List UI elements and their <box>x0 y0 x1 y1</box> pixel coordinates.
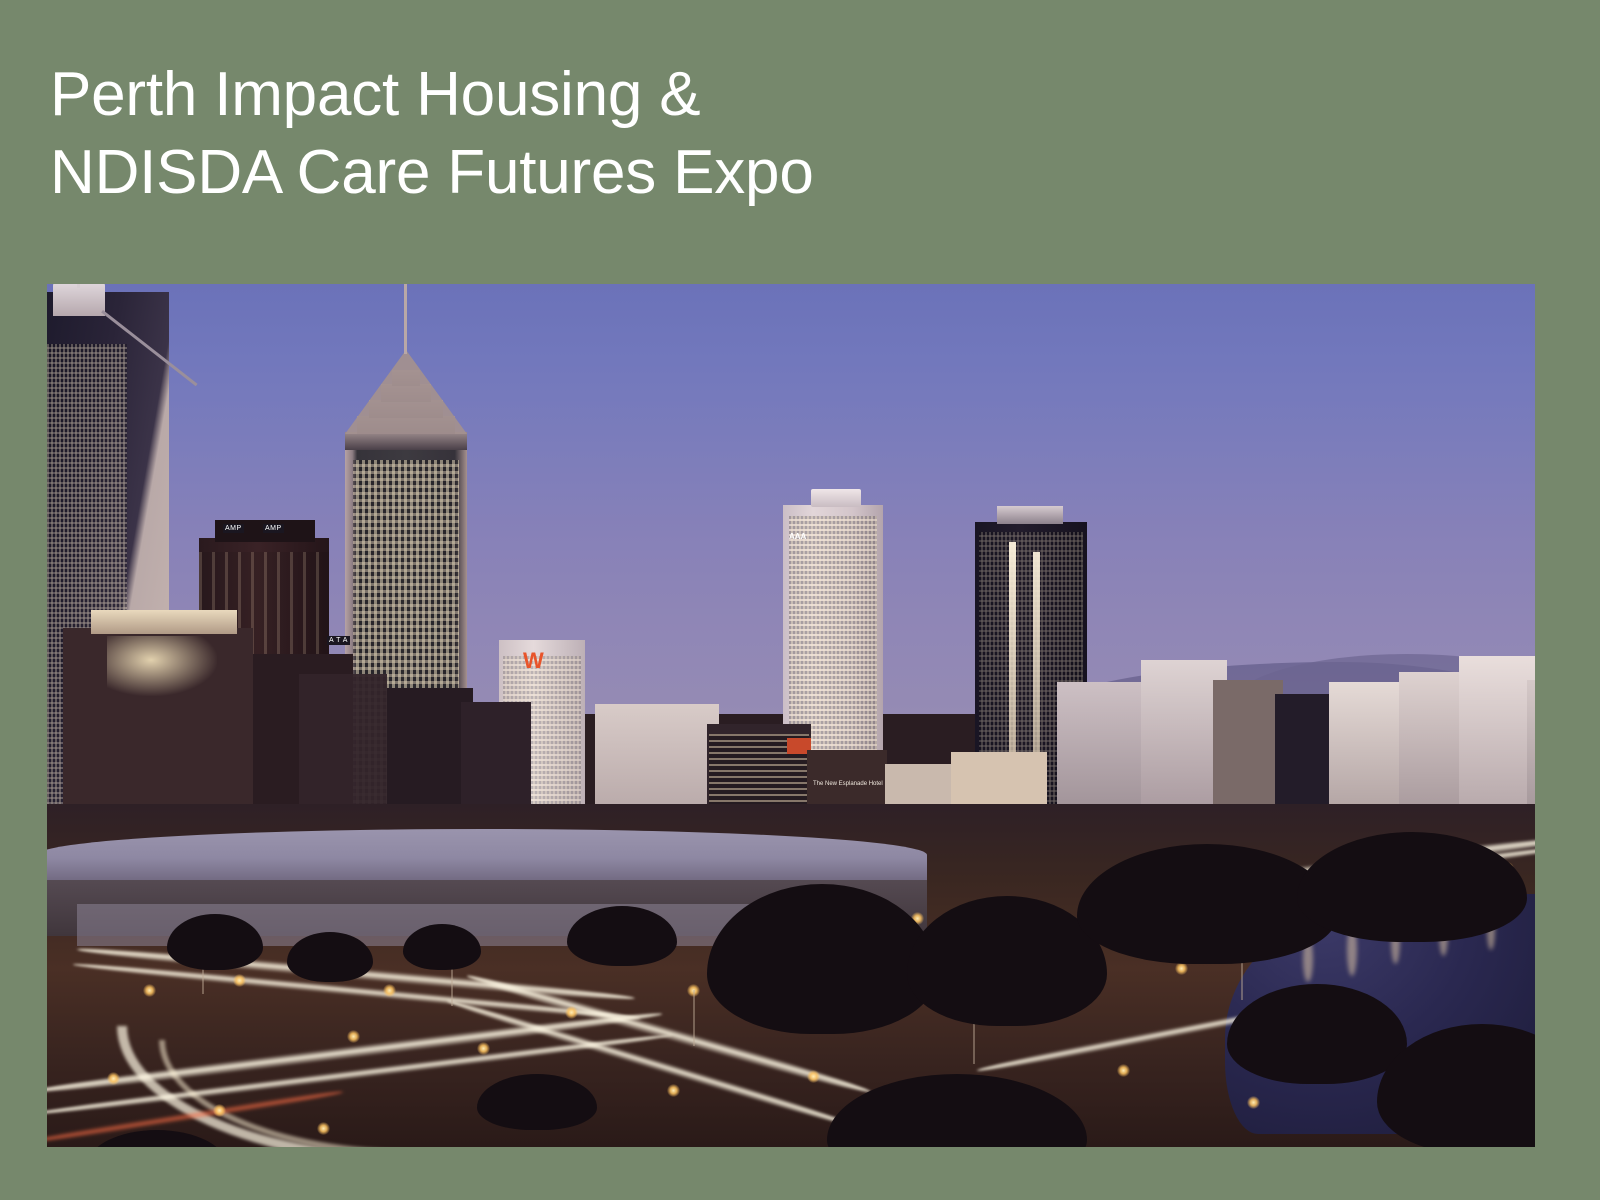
sign-westpac-w: W <box>523 650 544 672</box>
title-line-2: NDISDA Care Futures Expo <box>50 134 1150 212</box>
street-lamp <box>143 984 156 997</box>
building-bankwest-crown <box>53 284 105 316</box>
street-lamp <box>667 1084 680 1097</box>
street-lamp <box>1175 962 1188 975</box>
street-lamp <box>565 1006 578 1019</box>
building-central-park-spire <box>404 284 407 354</box>
street-lamp <box>807 1070 820 1083</box>
page-title: Perth Impact Housing & NDISDA Care Futur… <box>50 56 1150 212</box>
building-central-park-peak <box>345 350 467 434</box>
street-lamp <box>233 974 246 987</box>
building-aaa-tower-cap <box>811 489 861 507</box>
title-line-1: Perth Impact Housing & <box>50 56 1150 134</box>
street-lamp <box>107 1072 120 1085</box>
street-lamp <box>347 1030 360 1043</box>
street-lamp <box>1117 1064 1130 1077</box>
presentation-slide: Perth Impact Housing & NDISDA Care Futur… <box>0 0 1600 1200</box>
lamp-pole <box>693 990 695 1046</box>
sign-amp-left: AMP <box>223 524 244 533</box>
convention-centre-roof <box>47 829 927 887</box>
street-lamp <box>383 984 396 997</box>
building-dark-striped-cap <box>997 506 1063 524</box>
building-midblock-a-glow <box>107 636 217 696</box>
perth-skyline-photo: AMP AMP AAA W A T A <box>47 284 1535 1147</box>
building-bankwest-mast <box>77 284 80 288</box>
tree <box>403 924 481 970</box>
sign-aaa: AAA <box>789 533 806 541</box>
building-central-park-crown-base <box>345 432 467 450</box>
street-lamp <box>1247 1096 1260 1109</box>
building-midblock-a-roof <box>91 610 237 634</box>
street-lamp <box>213 1104 226 1117</box>
street-lamp <box>477 1042 490 1055</box>
sign-new-esplanade-hotel: The New Esplanade Hotel <box>813 780 883 788</box>
sign-amp-right: AMP <box>263 524 284 533</box>
sign-ata: A T A <box>327 636 350 645</box>
street-lamp <box>317 1122 330 1135</box>
